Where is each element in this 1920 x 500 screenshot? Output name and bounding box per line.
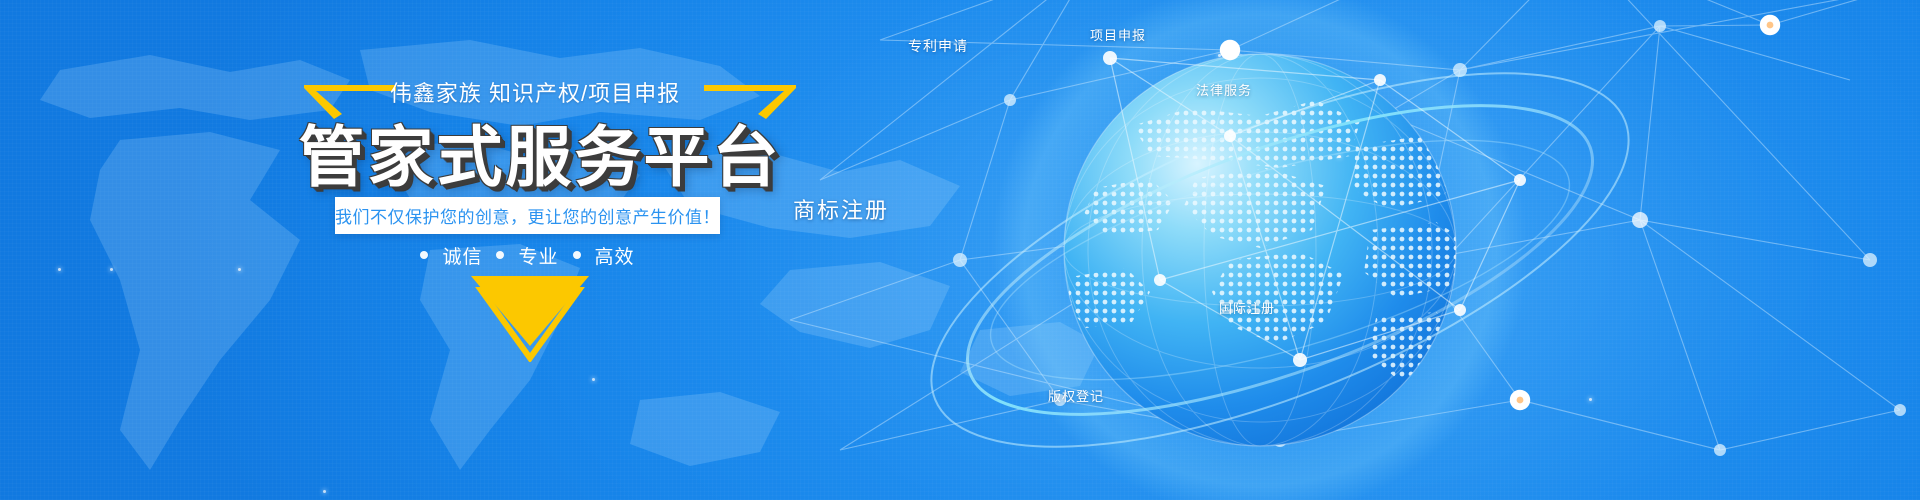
bullet-dot-icon [420, 251, 428, 259]
hero-content: 伟鑫家族 知识产权/项目申报 管家式服务平台 我们不仅保护您的创意，更让您的创意… [0, 0, 1000, 500]
keyword-integrity: 诚信 [442, 242, 482, 269]
network-label-copyright: 版权登记 [1048, 386, 1104, 405]
keyword-row: 诚信 专业 高效 [335, 240, 720, 270]
bullet-dot-icon [496, 251, 504, 259]
sparkle-dot [1338, 155, 1341, 158]
bullet-dot-icon [573, 251, 581, 259]
hero-banner: 伟鑫家族 知识产权/项目申报 管家式服务平台 我们不仅保护您的创意，更让您的创意… [0, 0, 1920, 500]
network-label-project: 项目申报 [1090, 25, 1146, 44]
network-label-trademark: 商标注册 [793, 193, 889, 225]
triangle-down-icon [465, 272, 595, 362]
network-label-legal: 法律服务 [1196, 80, 1252, 99]
network-label-patent: 专利申请 [908, 36, 968, 56]
tagline-box: 我们不仅保护您的创意，更让您的创意产生价值！ [335, 197, 720, 234]
page-title: 管家式服务平台 [290, 104, 790, 200]
sparkle-dot [1589, 398, 1592, 401]
keyword-professional: 专业 [518, 242, 558, 269]
tagline-text: 我们不仅保护您的创意，更让您的创意产生价值！ [335, 203, 720, 228]
keyword-efficient: 高效 [595, 242, 635, 269]
network-label-international: 国际注册 [1219, 298, 1275, 317]
sparkle-dot [1218, 54, 1221, 57]
